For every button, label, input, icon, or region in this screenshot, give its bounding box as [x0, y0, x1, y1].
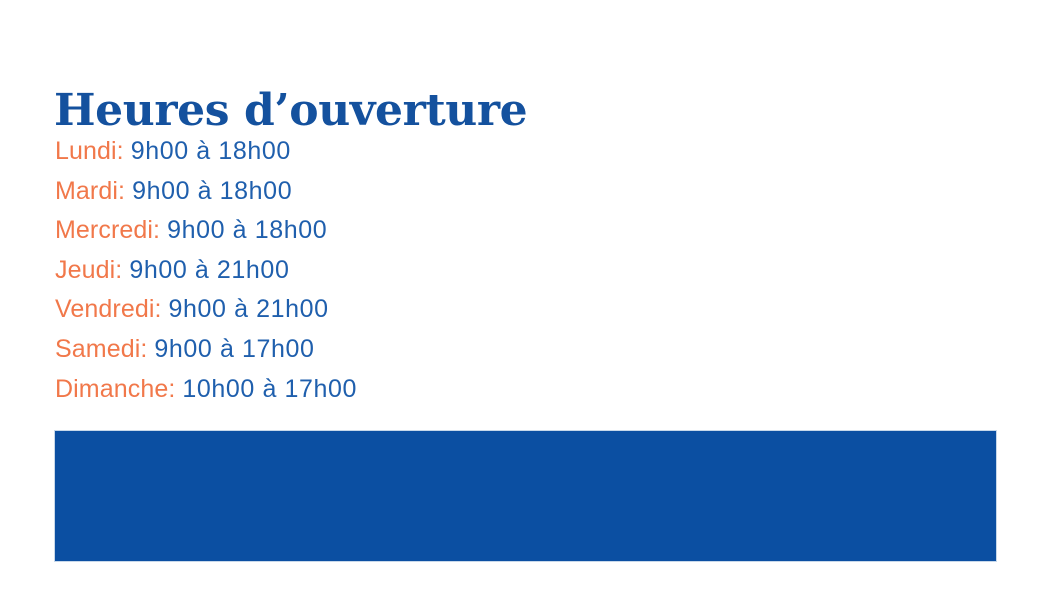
opening-hours-list: Lundi:9h00 à 18h00 Mardi:9h00 à 18h00 Me…: [55, 132, 615, 409]
list-item: Mardi:9h00 à 18h00: [55, 172, 615, 212]
time-value: 10h00 à 17h00: [182, 375, 357, 403]
day-label: Mercredi:: [55, 216, 160, 244]
list-item: Jeudi:9h00 à 21h00: [55, 251, 615, 291]
time-value: 9h00 à 18h00: [167, 216, 327, 244]
day-label: Jeudi:: [55, 256, 122, 284]
content-placeholder-block: [54, 430, 997, 562]
time-value: 9h00 à 21h00: [129, 256, 289, 284]
list-item: Samedi:9h00 à 17h00: [55, 330, 615, 370]
list-item: Mercredi:9h00 à 18h00: [55, 211, 615, 251]
slide-canvas: Heures d’ouverture Lundi:9h00 à 18h00 Ma…: [0, 0, 1050, 600]
page-title: Heures d’ouverture: [54, 87, 527, 135]
day-label: Dimanche:: [55, 375, 175, 403]
day-label: Vendredi:: [55, 295, 162, 323]
list-item: Lundi:9h00 à 18h00: [55, 132, 615, 172]
time-value: 9h00 à 18h00: [131, 137, 291, 165]
time-value: 9h00 à 18h00: [132, 177, 292, 205]
day-label: Mardi:: [55, 177, 125, 205]
time-value: 9h00 à 17h00: [154, 335, 314, 363]
list-item: Dimanche:10h00 à 17h00: [55, 370, 615, 410]
time-value: 9h00 à 21h00: [169, 295, 329, 323]
day-label: Samedi:: [55, 335, 147, 363]
day-label: Lundi:: [55, 137, 124, 165]
list-item: Vendredi:9h00 à 21h00: [55, 290, 615, 330]
